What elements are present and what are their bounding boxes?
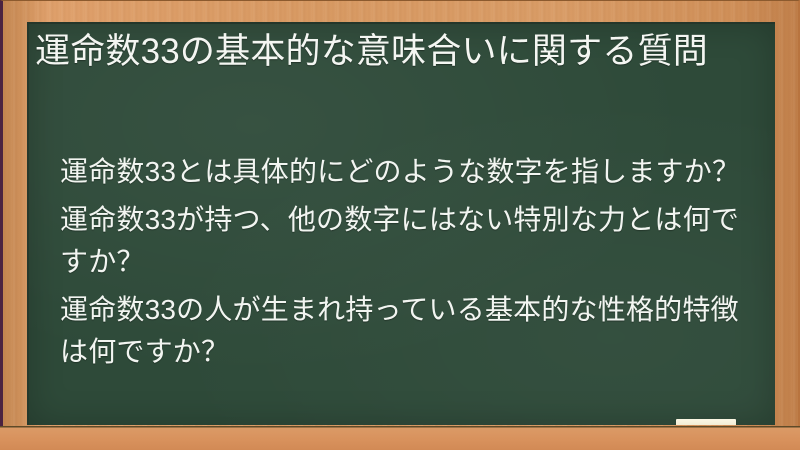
- chalkboard-surface: 運命数33の基本的な意味合いに関する質問 運命数33とは具体的にどのような数字を…: [27, 22, 775, 425]
- list-item: 運命数33が持つ、他の数字にはない特別な力とは何ですか？: [60, 199, 760, 283]
- page-title: 運命数33の基本的な意味合いに関する質問: [35, 28, 751, 76]
- chalkboard-slide: 運命数33の基本的な意味合いに関する質問 運命数33とは具体的にどのような数字を…: [0, 0, 800, 450]
- list-item: 運命数33とは具体的にどのような数字を指しますか？: [60, 151, 760, 193]
- list-item: 運命数33の人が生まれ持っている基本的な性格的特徴は何ですか？: [60, 289, 760, 373]
- chalk-stick-icon: [676, 419, 736, 425]
- question-list: 運命数33とは具体的にどのような数字を指しますか？ 運命数33が持つ、他の数字に…: [60, 151, 760, 379]
- chalk-ledge: [0, 426, 800, 450]
